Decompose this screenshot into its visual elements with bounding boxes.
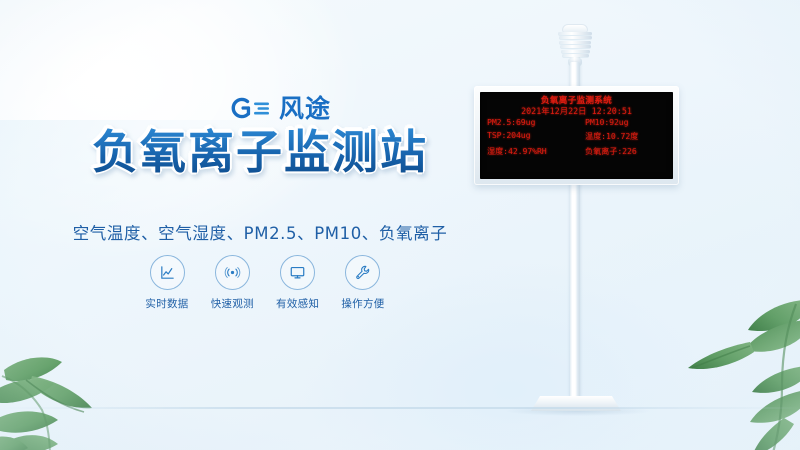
feature-item-easy-operation[interactable]: 操作方便 — [336, 255, 390, 311]
feature-item-effective-sensing[interactable]: 有效感知 — [271, 255, 325, 311]
led-reading-pm10: PM10:92ug — [579, 117, 667, 127]
led-display-panel: 负氧离子监测系统 2021年12月22日 12:20:51 PM2.5:69ug… — [474, 86, 679, 185]
feature-label: 快速观测 — [211, 296, 254, 311]
led-reading-anion: 负氧离子:226 — [579, 145, 667, 157]
feature-label: 操作方便 — [341, 296, 384, 311]
page-title: 负氧离子监测站 — [0, 128, 520, 176]
promo-banner: 风途 负氧离子监测站 空气温度、空气湿度、PM2.5、PM10、负氧离子 实时数… — [0, 0, 800, 450]
feature-label: 实时数据 — [145, 296, 188, 311]
ground-line — [0, 407, 800, 409]
led-reading-humidity: 湿度:42.97%RH — [487, 145, 575, 157]
brand-name: 风途 — [279, 96, 331, 121]
led-reading-temp: 温度:10.72度 — [579, 130, 667, 142]
led-readings-grid: PM2.5:69ug PM10:92ug TSP:204ug 温度:10.72度… — [487, 117, 667, 157]
feature-item-fast-observation[interactable]: 快速观测 — [205, 255, 259, 311]
wrench-icon — [345, 255, 380, 290]
led-timestamp: 2021年12月22日 12:20:51 — [480, 105, 673, 117]
leaf-plant-left — [0, 318, 142, 450]
feature-label: 有效感知 — [276, 296, 319, 311]
radar-sensor-icon — [215, 255, 250, 290]
feng-tu-logo-icon — [228, 93, 274, 123]
feature-item-realtime-data[interactable]: 实时数据 — [140, 255, 194, 311]
led-screen: 负氧离子监测系统 2021年12月22日 12:20:51 PM2.5:69ug… — [480, 92, 673, 179]
feature-list: 实时数据 快速观测 有效感知 — [140, 255, 390, 311]
monitor-icon — [280, 255, 315, 290]
led-reading-tsp: TSP:204ug — [487, 130, 575, 142]
leaf-plant-right — [676, 286, 800, 450]
led-reading-pm25: PM2.5:69ug — [487, 117, 575, 127]
brand-logo: 风途 — [228, 86, 348, 130]
page-subtitle: 空气温度、空气湿度、PM2.5、PM10、负氧离子 — [0, 220, 520, 244]
line-chart-icon — [150, 255, 185, 290]
shield-plates — [558, 32, 592, 58]
